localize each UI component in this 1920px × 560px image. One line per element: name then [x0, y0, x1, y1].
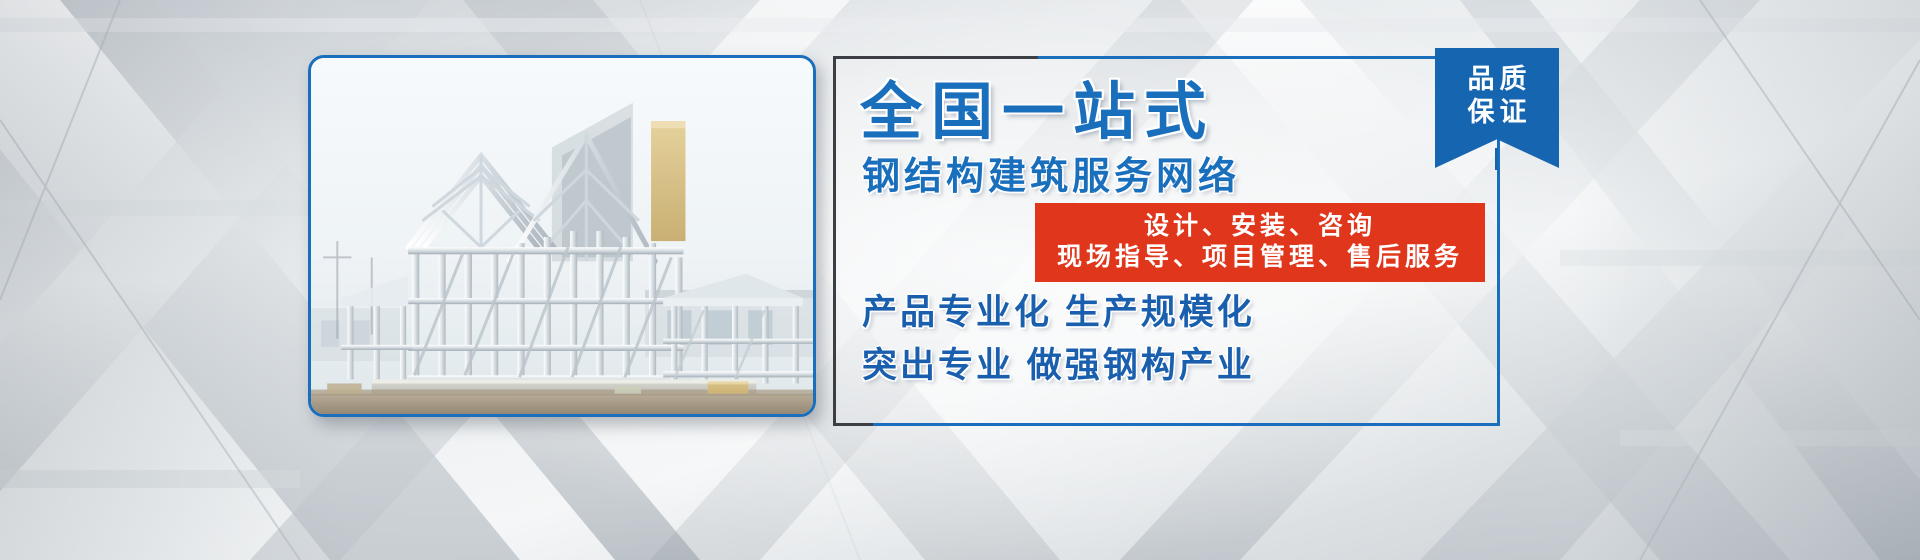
badge-line-1: 品质 — [1435, 63, 1559, 96]
tagline-1: 产品专业化 生产规模化 — [862, 293, 1255, 333]
services-line-2: 现场指导、项目管理、售后服务 — [1035, 242, 1485, 273]
frame-left-edge — [833, 56, 836, 426]
promo-banner: 全国一站式 钢结构建筑服务网络 设计、安装、咨询 现场指导、项目管理、售后服务 … — [0, 0, 1920, 560]
banner-text-content: 全国一站式 钢结构建筑服务网络 设计、安装、咨询 现场指导、项目管理、售后服务 … — [853, 56, 1500, 426]
services-line-1: 设计、安装、咨询 — [1035, 211, 1485, 242]
badge-stem — [1495, 148, 1498, 170]
services-red-box: 设计、安装、咨询 现场指导、项目管理、售后服务 — [1035, 203, 1485, 282]
construction-photo — [311, 58, 813, 414]
steel-frame-house-illustration — [311, 58, 813, 414]
badge-line-2: 保证 — [1435, 96, 1559, 129]
banner-headline: 全国一站式 — [860, 82, 1215, 144]
tagline-2: 突出专业 做强钢构产业 — [862, 346, 1255, 386]
construction-photo-card — [308, 55, 816, 417]
banner-subheadline: 钢结构建筑服务网络 — [862, 156, 1240, 198]
